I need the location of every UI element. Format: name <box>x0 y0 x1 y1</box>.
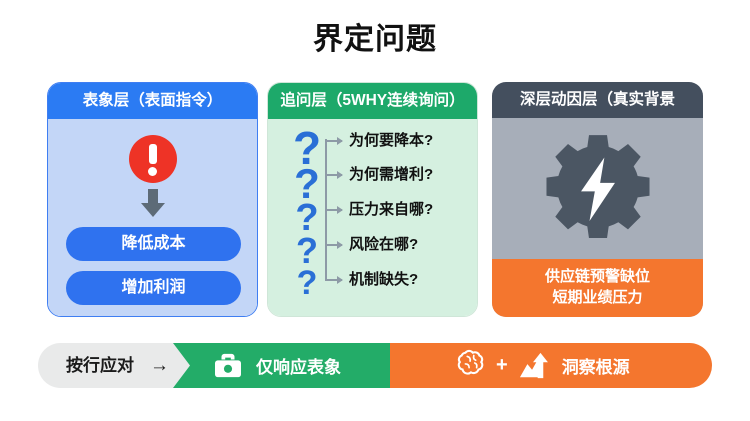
down-arrow-icon <box>141 189 165 217</box>
root-cause-line: 供应链预警缺位 <box>492 266 703 287</box>
why-row: 风险在哪? <box>325 235 475 255</box>
panel-surface-header: 表象层（表面指令） <box>48 83 257 119</box>
briefcase-icon <box>213 353 243 379</box>
arrow-right-icon <box>325 209 342 211</box>
arrow-right-icon: → <box>150 343 169 388</box>
arrow-head <box>141 203 165 217</box>
why-row: 为何要降本? <box>325 131 475 151</box>
panel-why-layer: 追问层（5WHY连续询问） ? ? ? ? ? 为何要降本? 为何需增利? 压力… <box>267 82 478 317</box>
panel-root-body: 供应链预警缺位 短期业绩压力 <box>492 118 703 317</box>
layers-panel-row: 表象层（表面指令） 降低成本 增加利润 追问层（5WHY连续询问） ? ? ? … <box>0 82 750 317</box>
panel-root-cause-layer: 深层动因层（真实背景 供应链预警缺位 短期业绩压力 <box>492 82 703 317</box>
action-bar: 按行应对 → 仅响应表象 + 洞察根源 <box>38 343 712 388</box>
root-cause-footer: 供应链预警缺位 短期业绩压力 <box>492 259 703 317</box>
panel-root-header: 深层动因层（真实背景 <box>492 82 703 118</box>
surface-item-pill[interactable]: 降低成本 <box>66 227 241 261</box>
growth-arrow-icon <box>517 352 549 380</box>
brain-icon <box>455 349 487 382</box>
why-question-text: 压力来自哪? <box>349 200 433 220</box>
panel-why-body: ? ? ? ? ? 为何要降本? 为何需增利? 压力来自哪? 风险在哪 <box>268 119 477 317</box>
arrow-right-icon <box>325 244 342 246</box>
arrow-right-icon <box>325 174 342 176</box>
why-row: 压力来自哪? <box>325 200 475 220</box>
arrow-right-icon <box>325 279 342 281</box>
green-segment-label: 仅响应表象 <box>256 353 341 378</box>
arrow-right-icon <box>325 140 342 142</box>
why-question-text: 为何需增利? <box>349 165 433 185</box>
why-row: 机制缺失? <box>325 270 475 290</box>
orange-segment-content: + 洞察根源 <box>455 343 630 388</box>
panel-surface-layer: 表象层（表面指令） 降低成本 增加利润 <box>47 82 258 317</box>
plus-sign: + <box>496 354 508 377</box>
why-question-text: 机制缺失? <box>349 270 418 290</box>
action-bar-lead-label: 按行应对 <box>66 343 134 388</box>
root-cause-line: 短期业绩压力 <box>492 287 703 308</box>
surface-item-pill[interactable]: 增加利润 <box>66 271 241 305</box>
why-question-text: 为何要降本? <box>349 131 433 151</box>
exclamation-circle-icon <box>129 135 177 183</box>
why-question-text: 风险在哪? <box>349 235 418 255</box>
why-row: 为何需增利? <box>325 165 475 185</box>
gear-lightning-icon <box>545 132 651 238</box>
arrow-shaft <box>148 189 158 204</box>
exclamation-stem <box>149 144 157 164</box>
orange-segment-label: 洞察根源 <box>562 353 630 378</box>
green-segment-content: 仅响应表象 <box>213 343 341 388</box>
page-title: 界定问题 <box>0 14 750 58</box>
panel-surface-body: 降低成本 增加利润 <box>48 119 257 317</box>
panel-why-header: 追问层（5WHY连续询问） <box>268 83 477 119</box>
exclamation-dot <box>148 167 157 176</box>
